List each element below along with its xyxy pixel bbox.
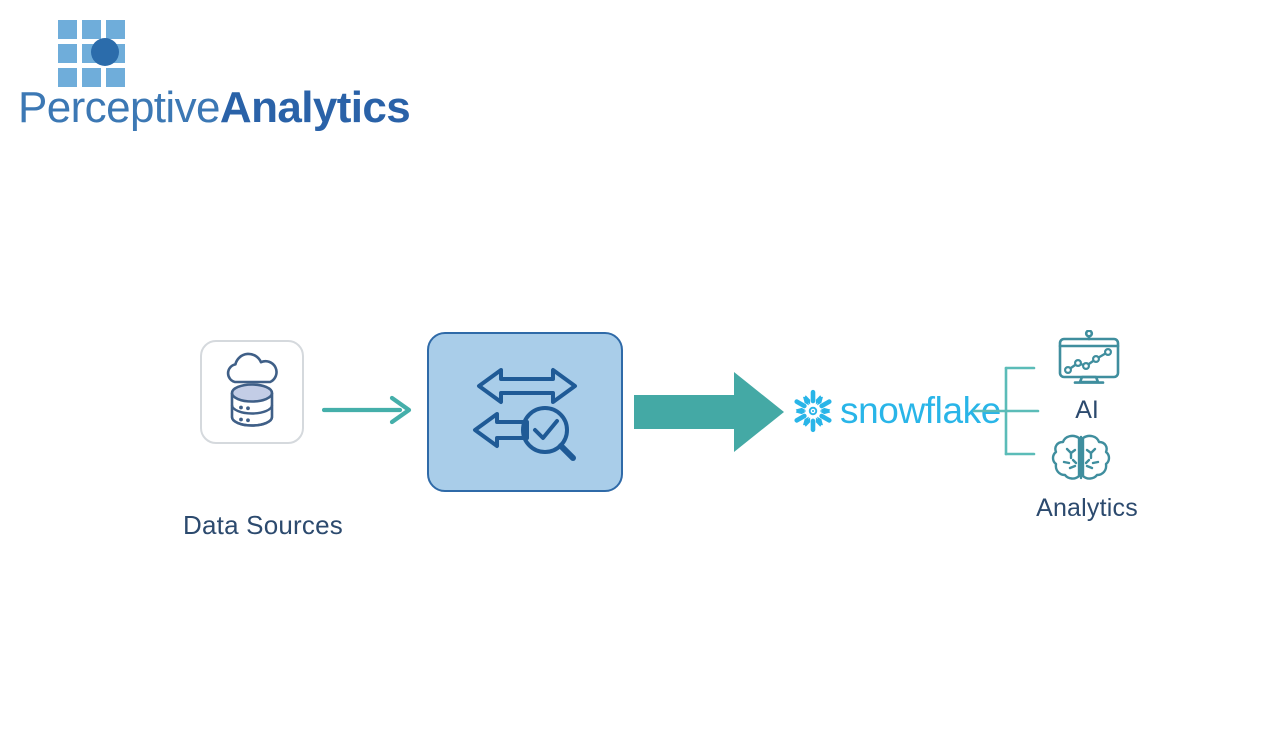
brand-name-part2: Analytics — [220, 83, 410, 132]
ai-label: AI — [1026, 396, 1148, 425]
brand-name-part1: Perceptive — [18, 83, 220, 132]
data-transform-validate-icon — [465, 364, 589, 464]
data-sources-label: Data Sources — [178, 510, 348, 541]
logo-dot-icon — [91, 38, 119, 66]
data-sources-card — [200, 340, 304, 444]
node-outputs-group: AI — [968, 320, 1148, 540]
brain-icon — [1050, 432, 1112, 488]
node-data-sources: Data Sources — [180, 340, 345, 550]
connector-arrow-block — [634, 368, 786, 456]
architecture-flow-diagram: Data Sources — [0, 300, 1275, 550]
output-analytics: Analytics — [1006, 432, 1168, 542]
logo-grid-icon — [58, 20, 126, 88]
monitor-chart-icon — [1054, 330, 1124, 390]
snowflake-icon — [790, 388, 836, 434]
connector-arrow-thin — [322, 392, 414, 428]
brand-logo: PerceptiveAnalytics — [18, 14, 348, 124]
node-snowflake: snowflake — [790, 388, 962, 438]
brand-wordmark: PerceptiveAnalytics — [18, 86, 410, 130]
node-etl-processing — [427, 332, 623, 492]
cloud-database-icon — [202, 342, 302, 442]
output-ai: AI — [1026, 330, 1148, 440]
analytics-label: Analytics — [1006, 494, 1168, 523]
